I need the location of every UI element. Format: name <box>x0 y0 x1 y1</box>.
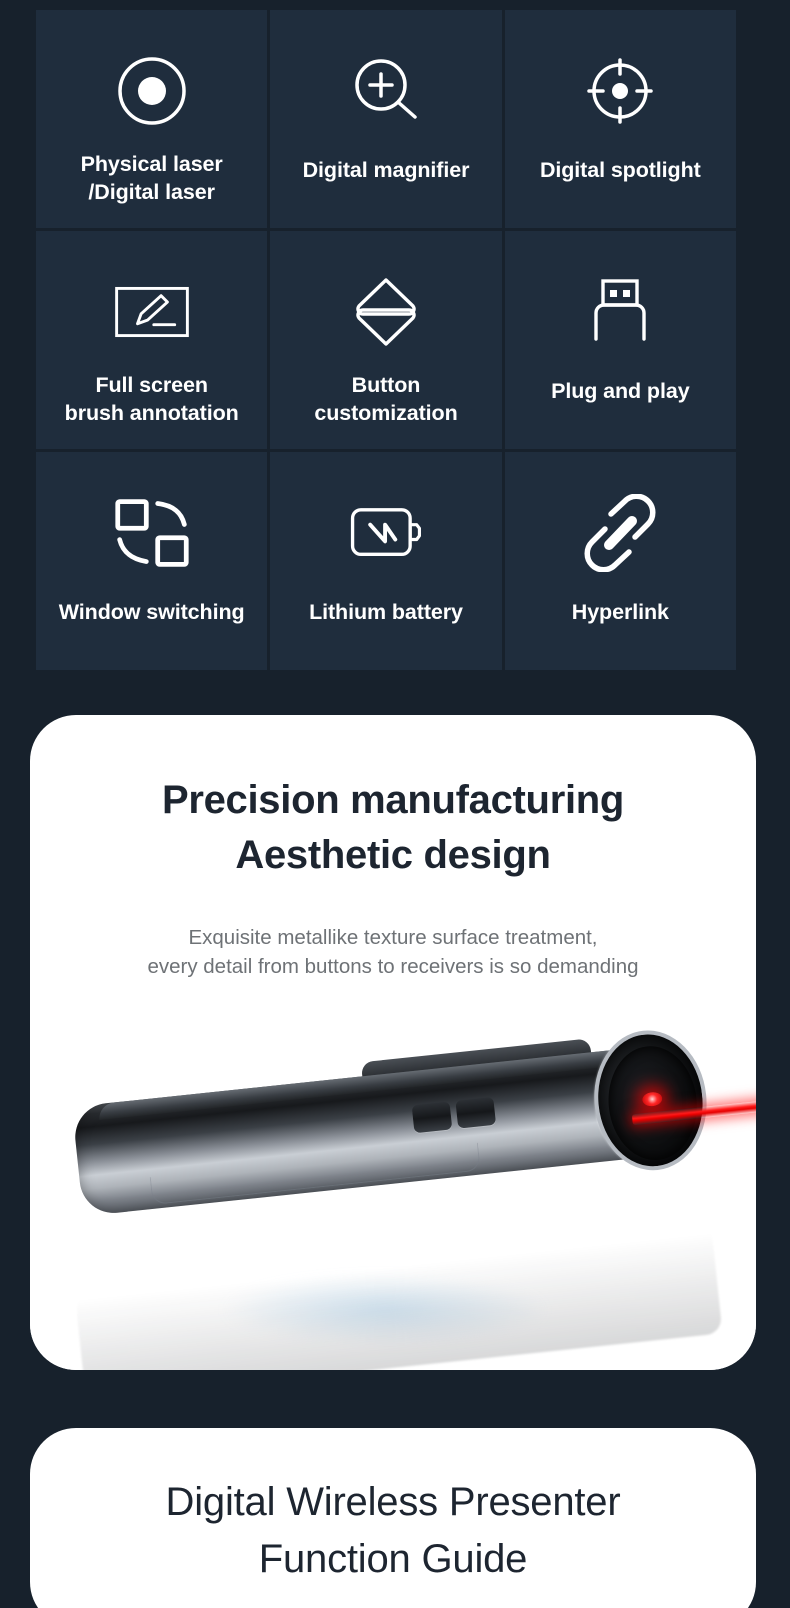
feature-tile-window-switching[interactable]: Window switching <box>36 452 267 670</box>
feature-tile-hyperlink[interactable]: Hyperlink <box>505 452 736 670</box>
precision-manufacturing-card: Precision manufacturing Aesthetic design… <box>30 715 756 1370</box>
battery-bolt-icon <box>347 494 425 572</box>
feature-grid: Physical laser /Digital laser Digital ma… <box>36 10 736 670</box>
pen-button-left <box>412 1101 453 1133</box>
usb-plug-icon <box>581 273 659 351</box>
feature-tile-lithium-battery[interactable]: Lithium battery <box>270 452 501 670</box>
feature-tile-digital-magnifier[interactable]: Digital magnifier <box>270 10 501 228</box>
feature-tile-label: Digital spotlight <box>536 156 705 184</box>
feature-tile-label: Digital magnifier <box>299 156 474 184</box>
window-switch-icon <box>113 494 191 572</box>
feature-tile-brush-annotation[interactable]: Full screen brush annotation <box>36 231 267 449</box>
feature-tile-label: Full screen brush annotation <box>61 371 243 428</box>
feature-tile-label: Window switching <box>55 598 249 626</box>
up-down-arrows-icon <box>347 273 425 351</box>
feature-tile-label: Lithium battery <box>305 598 467 626</box>
pen-button-right <box>455 1097 496 1129</box>
feature-tile-label: Button customization <box>310 371 461 428</box>
feature-tile-digital-spotlight[interactable]: Digital spotlight <box>505 10 736 228</box>
pen-screen-annotation-icon <box>113 273 191 351</box>
feature-tile-label: Physical laser /Digital laser <box>77 150 227 207</box>
feature-tile-label: Plug and play <box>547 377 693 405</box>
spotlight-crosshair-icon <box>581 52 659 130</box>
function-guide-card: Digital Wireless Presenter Function Guid… <box>30 1428 756 1608</box>
hero-subtitle: Exquisite metallike texture surface trea… <box>30 923 756 981</box>
hero-title: Precision manufacturing Aesthetic design <box>30 773 756 883</box>
magnifier-plus-icon <box>347 52 425 130</box>
feature-tile-label: Hyperlink <box>568 598 673 626</box>
laser-dot-circle-icon <box>113 52 191 130</box>
feature-tile-physical-laser[interactable]: Physical laser /Digital laser <box>36 10 267 228</box>
feature-tile-button-customization[interactable]: Button customization <box>270 231 501 449</box>
guide-title: Digital Wireless Presenter Function Guid… <box>30 1474 756 1588</box>
feature-tile-plug-and-play[interactable]: Plug and play <box>505 231 736 449</box>
product-detail-page: Physical laser /Digital laser Digital ma… <box>0 0 790 1608</box>
product-photo <box>30 1025 756 1370</box>
chain-link-icon <box>581 494 659 572</box>
